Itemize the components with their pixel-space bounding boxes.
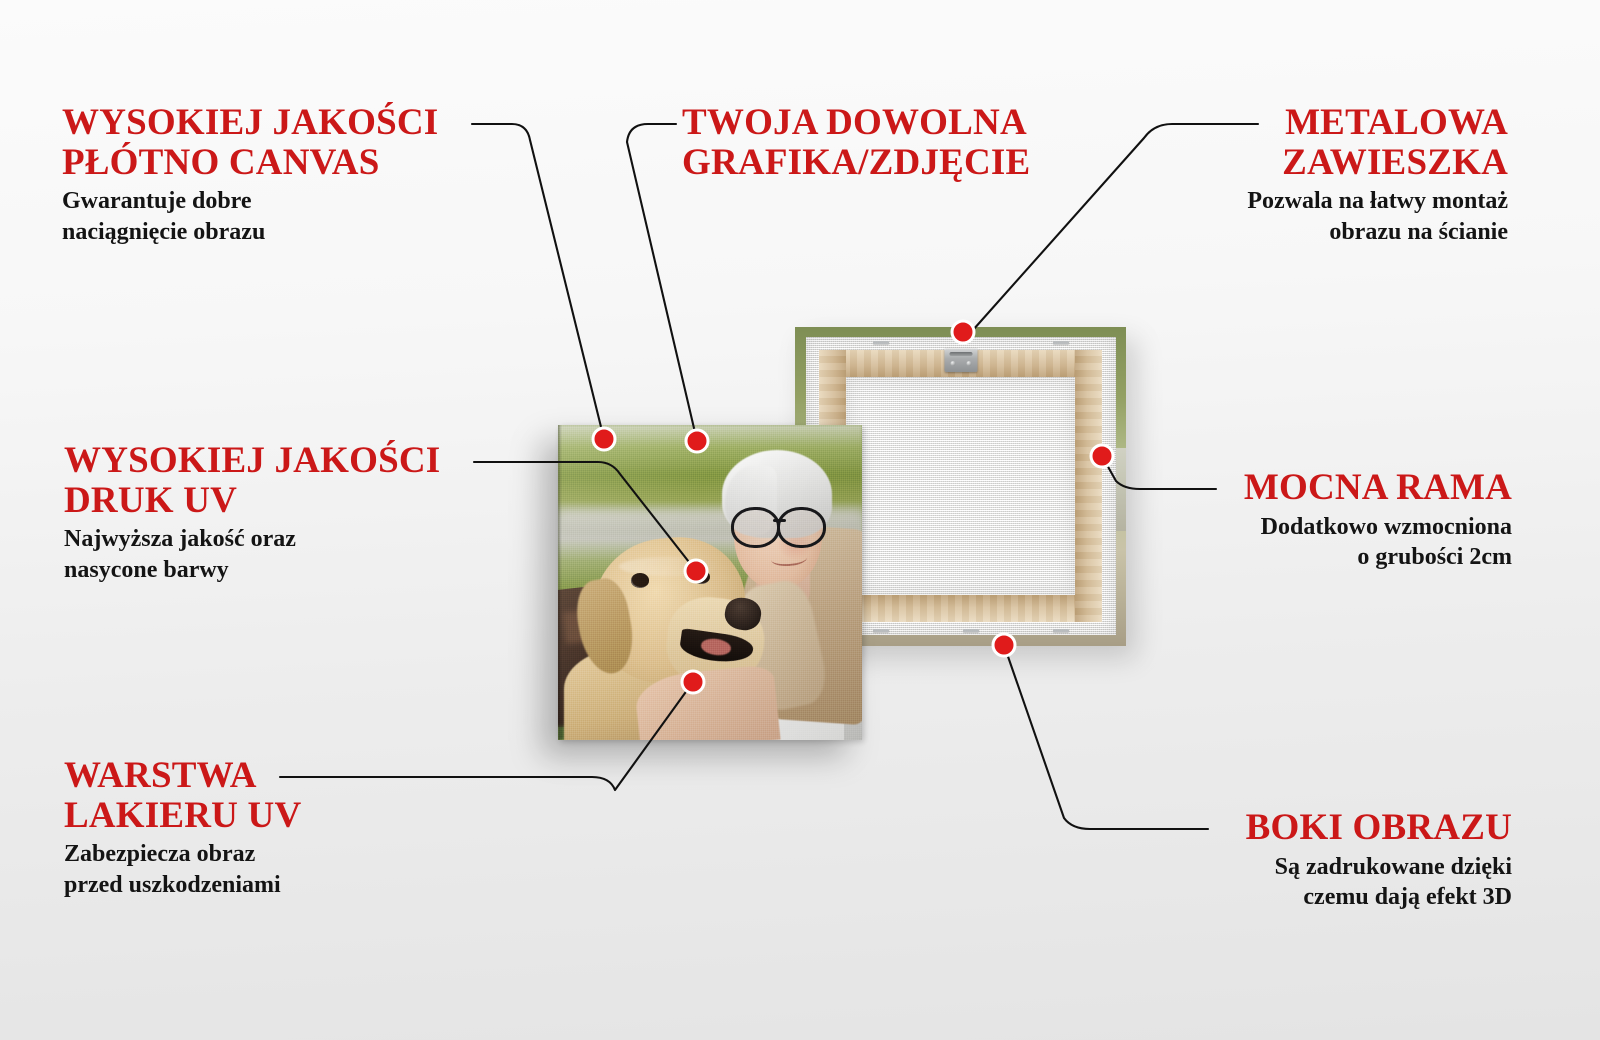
callout-sub-line1: Dodatkowo wzmocniona bbox=[1244, 512, 1512, 543]
canvas-side-edge bbox=[558, 425, 562, 740]
callout-metal-hanger: METALOWA ZAWIESZKA Pozwala na łatwy mont… bbox=[1247, 103, 1508, 248]
canvas-staple bbox=[963, 629, 979, 632]
hanger-screw-left bbox=[950, 361, 955, 366]
hanger-screw-right bbox=[966, 361, 971, 366]
canvas-back-panel bbox=[846, 377, 1075, 595]
callout-canvas-quality: WYSOKIEJ JAKOŚCI PŁÓTNO CANVAS Gwarantuj… bbox=[62, 103, 438, 248]
infographic-stage: WYSOKIEJ JAKOŚCI PŁÓTNO CANVAS Gwarantuj… bbox=[0, 0, 1600, 1040]
callout-sub-line2: czemu dają efekt 3D bbox=[1246, 882, 1512, 913]
callout-sub-line2: obrazu na ścianie bbox=[1247, 217, 1508, 248]
callout-sub-line1: Są zadrukowane dzięki bbox=[1246, 852, 1512, 883]
stretcher-bar-right bbox=[1075, 350, 1102, 622]
callout-heading-line2: DRUK UV bbox=[64, 481, 440, 521]
callout-heading: WARSTWA bbox=[64, 756, 301, 796]
stretcher-bar-bottom bbox=[829, 595, 1092, 622]
canvas-staple bbox=[873, 341, 889, 344]
canvas-staple bbox=[873, 629, 889, 632]
canvas-varnish-sheen bbox=[558, 425, 862, 740]
callout-heading: METALOWA bbox=[1247, 103, 1508, 143]
printed-photo bbox=[558, 425, 862, 740]
canvas-print-front bbox=[558, 425, 862, 740]
callout-heading-line2: GRAFIKA/ZDJĘCIE bbox=[682, 143, 1030, 183]
callout-heading-line2: ZAWIESZKA bbox=[1247, 143, 1508, 183]
callout-sub-line2: naciągnięcie obrazu bbox=[62, 217, 438, 248]
callout-strong-frame: MOCNA RAMA Dodatkowo wzmocniona o gruboś… bbox=[1244, 468, 1512, 573]
callout-sub-line2: nasycone barwy bbox=[64, 555, 440, 586]
leader-line-canvas-quality bbox=[472, 124, 604, 439]
metal-hanger-icon bbox=[944, 348, 977, 372]
canvas-staple bbox=[1053, 341, 1069, 344]
callout-uv-print: WYSOKIEJ JAKOŚCI DRUK UV Najwyższa jakoś… bbox=[64, 441, 440, 586]
callout-your-graphic: TWOJA DOWOLNA GRAFIKA/ZDJĘCIE bbox=[682, 103, 1030, 182]
callout-sub-line1: Pozwala na łatwy montaż bbox=[1247, 186, 1508, 217]
callout-heading: BOKI OBRAZU bbox=[1246, 808, 1512, 848]
callout-heading-line2: PŁÓTNO CANVAS bbox=[62, 143, 438, 183]
callout-uv-varnish: WARSTWA LAKIERU UV Zabezpiecza obraz prz… bbox=[64, 756, 301, 901]
callout-sub-line1: Gwarantuje dobre bbox=[62, 186, 438, 217]
callout-heading: WYSOKIEJ JAKOŚCI bbox=[64, 441, 440, 481]
callout-image-sides: BOKI OBRAZU Są zadrukowane dzięki czemu … bbox=[1246, 808, 1512, 913]
callout-sub-line2: przed uszkodzeniami bbox=[64, 870, 301, 901]
leader-line-image-sides bbox=[1004, 645, 1208, 829]
canvas-staple bbox=[1053, 629, 1069, 632]
callout-heading: TWOJA DOWOLNA bbox=[682, 103, 1030, 143]
callout-heading: MOCNA RAMA bbox=[1244, 468, 1512, 508]
callout-heading: WYSOKIEJ JAKOŚCI bbox=[62, 103, 438, 143]
callout-sub-line2: o grubości 2cm bbox=[1244, 542, 1512, 573]
hanger-slot bbox=[949, 352, 972, 356]
callout-sub-line1: Najwyższa jakość oraz bbox=[64, 524, 440, 555]
callout-heading-line2: LAKIERU UV bbox=[64, 796, 301, 836]
callout-sub-line1: Zabezpiecza obraz bbox=[64, 839, 301, 870]
